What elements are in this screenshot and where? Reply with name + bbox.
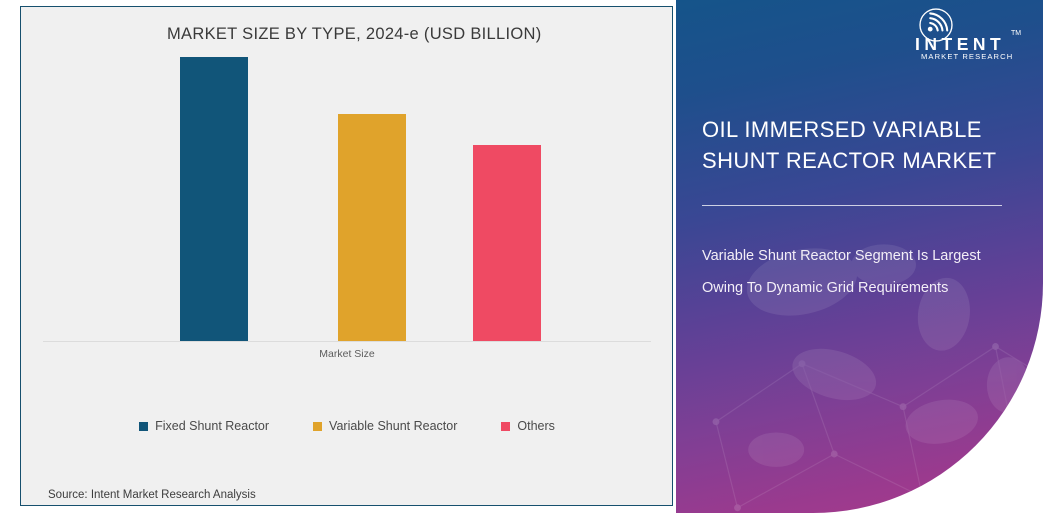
source-note: Source: Intent Market Research Analysis	[48, 489, 256, 501]
right-title-panel: INTENT TM MARKET RESEARCH OIL IMMERSED V…	[676, 0, 1043, 513]
bar-fixed-shunt-reactor[interactable]	[180, 57, 248, 341]
chart-card: MARKET SIZE BY TYPE, 2024-e (USD BILLION…	[20, 6, 673, 506]
logo-trademark-symbol: TM	[1011, 30, 1021, 37]
legend-item-variable-shunt-reactor[interactable]: Variable Shunt Reactor	[313, 419, 457, 433]
x-axis-category-label: Market Size	[43, 348, 651, 360]
legend-item-fixed-shunt-reactor[interactable]: Fixed Shunt Reactor	[139, 419, 269, 433]
chart-title: MARKET SIZE BY TYPE, 2024-e (USD BILLION…	[167, 25, 647, 44]
axis-baseline	[43, 341, 651, 342]
bar-group-others[interactable]	[473, 145, 541, 341]
panel-divider	[702, 205, 1002, 206]
legend-swatch-icon	[501, 422, 510, 431]
bar-variable-shunt-reactor[interactable]	[338, 114, 406, 341]
legend-item-label: Fixed Shunt Reactor	[155, 419, 269, 433]
bar-group-variable-shunt-reactor[interactable]	[338, 114, 406, 341]
globe-network-pattern-icon	[676, 153, 1043, 513]
legend-item-label: Others	[517, 419, 555, 433]
legend-item-others[interactable]: Others	[501, 419, 555, 433]
intent-market-research-logo: INTENT TM MARKET RESEARCH	[909, 8, 1027, 60]
legend-item-label: Variable Shunt Reactor	[329, 419, 457, 433]
panel-title: OIL IMMERSED VARIABLE SHUNT REACTOR MARK…	[702, 114, 1014, 176]
legend-swatch-icon	[139, 422, 148, 431]
chart-legend: Fixed Shunt Reactor Variable Shunt React…	[43, 419, 651, 433]
bar-group-fixed-shunt-reactor[interactable]	[180, 57, 248, 341]
panel-subtitle: Variable Shunt Reactor Segment Is Larges…	[702, 240, 1007, 304]
legend-swatch-icon	[313, 422, 322, 431]
bar-others[interactable]	[473, 145, 541, 341]
bar-chart-plot-area	[43, 57, 651, 342]
logo-tagline: MARKET RESEARCH	[921, 52, 1025, 61]
